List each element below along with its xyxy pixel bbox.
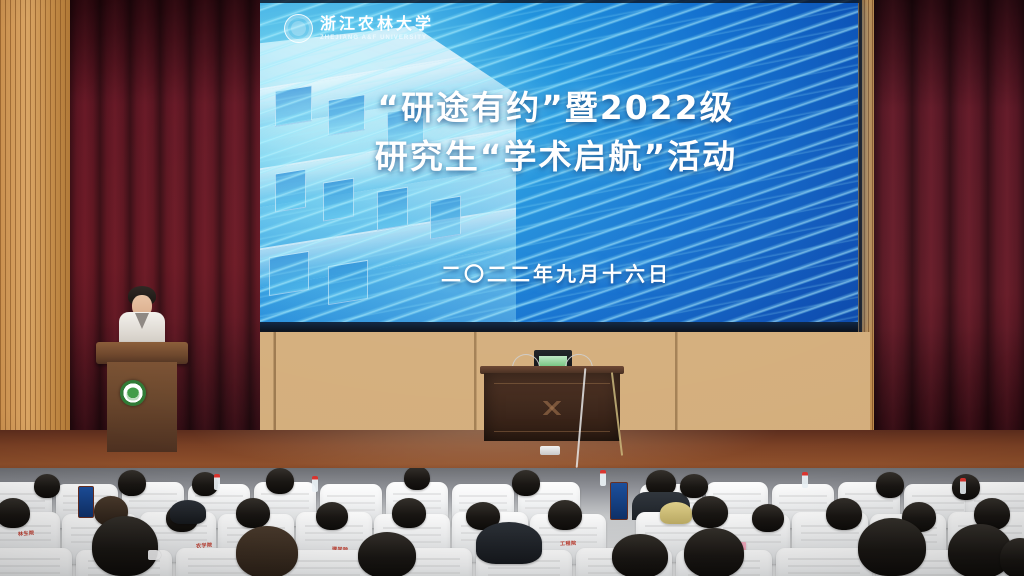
stage-curtain-right — [874, 0, 1024, 452]
podium-area — [96, 286, 188, 456]
table-chevron-detail — [506, 401, 598, 415]
audience-head-f4-cap — [476, 522, 542, 564]
university-name-cn: 浙江农林大学 — [320, 16, 434, 32]
chair-tag-3: 工程院 — [560, 540, 577, 548]
wood-slat-wall-left — [0, 0, 78, 452]
water-bottle-3 — [600, 470, 606, 486]
audience-head-b6 — [512, 470, 540, 496]
audience-head-f3 — [358, 532, 416, 576]
presenter-at-podium — [116, 286, 168, 348]
university-seal-icon — [284, 14, 313, 43]
aisle-display-right — [610, 482, 628, 520]
audience-head-b2 — [118, 470, 146, 496]
event-title: “研途有约”暨2022级 研究生“学术启航”活动 — [254, 84, 858, 182]
audience-head-m11 — [692, 496, 728, 528]
floor-power-box — [540, 446, 560, 455]
speaking-podium — [96, 342, 188, 452]
audience-head-m12 — [752, 504, 784, 532]
podium-top — [96, 342, 188, 364]
audience-head-m9 — [548, 500, 582, 530]
emblem-tree-icon — [127, 387, 140, 400]
audience-head-m10-cap — [660, 502, 692, 524]
university-seal-emblem — [120, 380, 146, 406]
presentation-table — [480, 350, 624, 460]
audience-head-m6 — [392, 498, 426, 528]
event-date: 二〇二二年九月十六日 — [254, 258, 858, 287]
audience-head-f7 — [858, 518, 926, 576]
water-bottle-2 — [312, 476, 318, 492]
table-front-panel — [484, 373, 620, 441]
chair-front-1 — [0, 548, 72, 576]
audience-head-f6 — [684, 528, 744, 576]
audience-head-m7-cap — [170, 500, 206, 524]
university-logo: 浙江农林大学 ZHEJIANG A&F UNIVERSITY — [284, 14, 434, 43]
event-title-line-1: “研途有约”暨2022级 — [377, 88, 734, 127]
event-title-line-2: 研究生“学术启航”活动 — [254, 133, 858, 182]
audience-head-m1 — [0, 498, 30, 528]
audience-head-b1 — [34, 474, 60, 498]
audience-head-m5 — [316, 502, 348, 530]
audience-head-b4 — [266, 468, 294, 494]
podium-front-panel — [107, 362, 177, 452]
water-bottle-5 — [960, 478, 966, 494]
chair-tag-4: 林生院 — [18, 529, 35, 537]
face-mask-f1 — [148, 550, 161, 560]
audience-head-f2 — [236, 526, 298, 576]
audience-head-b9 — [876, 472, 904, 498]
audience-head-m13 — [826, 498, 862, 530]
audience-head-f5 — [612, 534, 668, 576]
aisle-display-left — [78, 486, 94, 518]
audience-head-f1 — [92, 516, 158, 576]
led-stage-screen: 浙江农林大学 ZHEJIANG A&F UNIVERSITY “研途有约”暨20… — [254, 0, 858, 334]
water-bottle-1 — [214, 474, 220, 490]
university-name-en: ZHEJIANG A&F UNIVERSITY — [320, 35, 434, 41]
audience-head-b8 — [680, 474, 708, 498]
auditorium-scene: 浙江农林大学 ZHEJIANG A&F UNIVERSITY “研途有约”暨20… — [0, 0, 1024, 576]
audience-head-b5 — [404, 468, 430, 490]
audience-head-b10 — [952, 474, 980, 500]
audience-seating: 林生院 农学院 理学院 工程院 林生院 — [0, 468, 1024, 576]
audience-head-m4 — [236, 498, 270, 528]
water-bottle-4 — [802, 472, 808, 488]
